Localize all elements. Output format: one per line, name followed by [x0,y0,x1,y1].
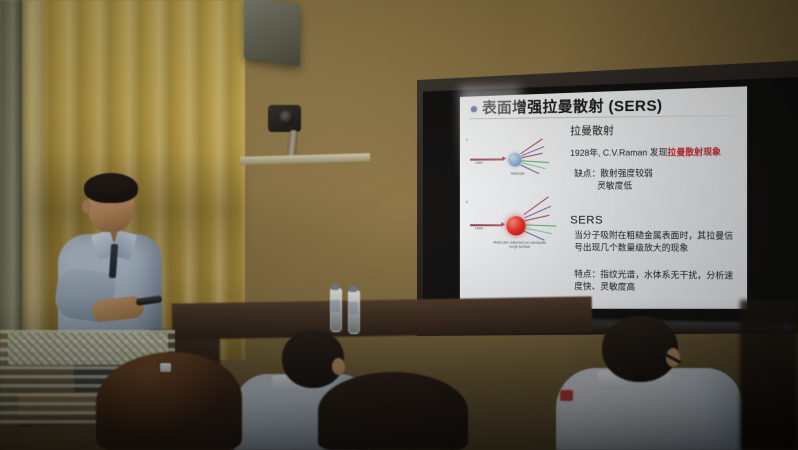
presenter-ear [82,200,91,213]
diagram-a-caption: molecule [500,171,535,175]
sers-enhancement-diagram: b Laser Molecules adsorbed on nanoscale … [466,198,568,251]
drawback-line2: 灵敏度低 [574,180,734,193]
discovery-highlight: 拉曼散射现象 [667,146,721,157]
lecture-room-photo: 表面增强拉曼散射 (SERS) 拉曼散射 a Laser molec [0,0,798,450]
raman-scattering-diagram: a Laser molecule [466,134,568,181]
slide-subheading: 拉曼散射 [570,123,614,139]
sers-heading: SERS [570,214,603,226]
discovery-prefix: 1928年, C.V.Raman 发现 [570,147,667,158]
raman-drawback-text: 缺点：散射强度较弱 灵敏度低 [574,167,734,192]
sers-feature-text: 特点：指纹光谱，水体系无干扰，分析速度快、灵敏度高 [574,269,736,295]
laser-arrow-icon [501,222,505,226]
bottle-cap-icon [331,284,339,290]
window-frame [0,0,22,330]
sers-definition-text: 当分子吸附在粗糙金属表面时，其拉曼信号出现几个数量级放大的现象 [574,230,734,255]
slide-bullet-icon [471,106,477,112]
diagram-marker-a: a [466,137,468,141]
diagram-marker-b: b [466,200,468,204]
laser-arrow-icon [502,156,506,160]
wall-speaker-icon [244,0,300,66]
presenter-hair [84,173,138,203]
raman-discovery-text: 1928年, C.V.Raman 发现拉曼散射现象 [570,146,740,159]
laser-label: Laser [468,226,490,230]
foreground-shadow [0,300,798,450]
slide-title: 表面增强拉曼散射 (SERS) [482,93,734,118]
drawback-line1: 缺点：散射强度较弱 [574,168,653,179]
metal-nanoparticle-icon [506,216,525,235]
diagram-b-caption: Molecules adsorbed on nanoscale rough su… [492,240,547,248]
laser-label: Laser [468,161,490,165]
bottle-cap-icon [349,286,357,292]
presentation-slide: 表面增强拉曼散射 (SERS) 拉曼散射 a Laser molec [460,86,747,313]
camera-lens-icon [279,110,294,125]
